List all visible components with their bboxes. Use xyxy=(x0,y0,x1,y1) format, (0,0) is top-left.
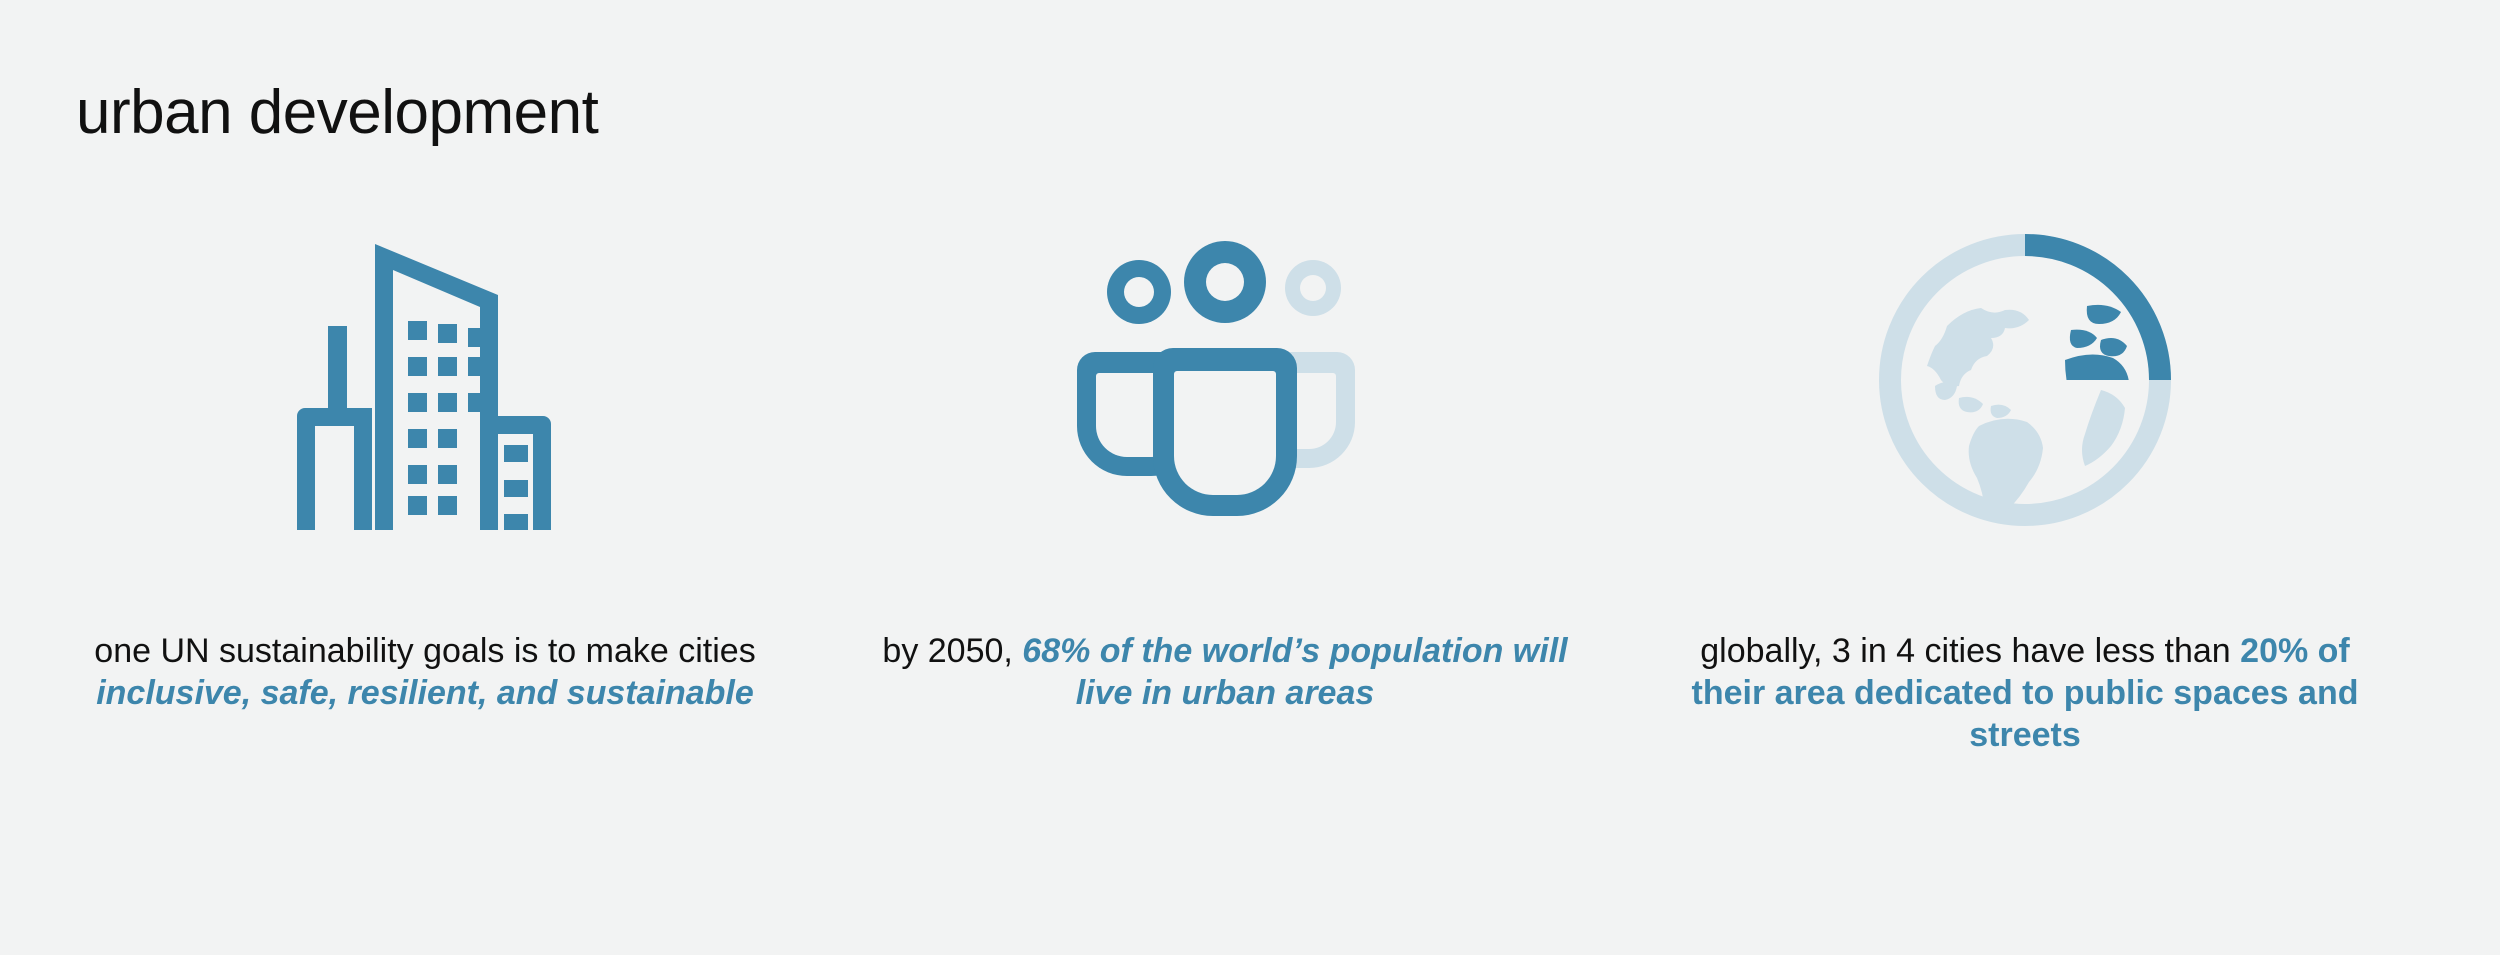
caption-plain-text: one UN sustainability goals is to make c… xyxy=(94,632,755,670)
stat-column-buildings: one UN sustainability goals is to make c… xyxy=(30,215,820,714)
globe-with-quarter-wedge-icon xyxy=(1875,230,2175,530)
caption-highlight-text: inclusive, safe, resilient, and sustaina… xyxy=(96,674,754,712)
stat-columns: one UN sustainability goals is to make c… xyxy=(0,215,2500,756)
stat-column-population: by 2050, 68% of the world’s population w… xyxy=(830,215,1620,714)
stat-column-globe: globally, 3 in 4 cities have less than 2… xyxy=(1630,215,2420,756)
group-of-people-icon-wrap xyxy=(1075,215,1375,545)
group-of-people-icon xyxy=(1075,230,1375,530)
stat-caption-buildings: one UN sustainability goals is to make c… xyxy=(75,630,775,714)
city-buildings-icon xyxy=(275,230,575,530)
caption-highlight-text: 68% of the world’s population will live … xyxy=(1022,632,1567,712)
caption-plain-text: by 2050, xyxy=(882,632,1022,670)
stat-caption-globe: globally, 3 in 4 cities have less than 2… xyxy=(1675,630,2375,756)
caption-plain-text: globally, 3 in 4 cities have less than xyxy=(1700,632,2240,670)
city-buildings-icon-wrap xyxy=(275,215,575,545)
globe-icon-wrap xyxy=(1875,215,2175,545)
page-title: urban development xyxy=(76,82,598,144)
stat-caption-population: by 2050, 68% of the world’s population w… xyxy=(875,630,1575,714)
